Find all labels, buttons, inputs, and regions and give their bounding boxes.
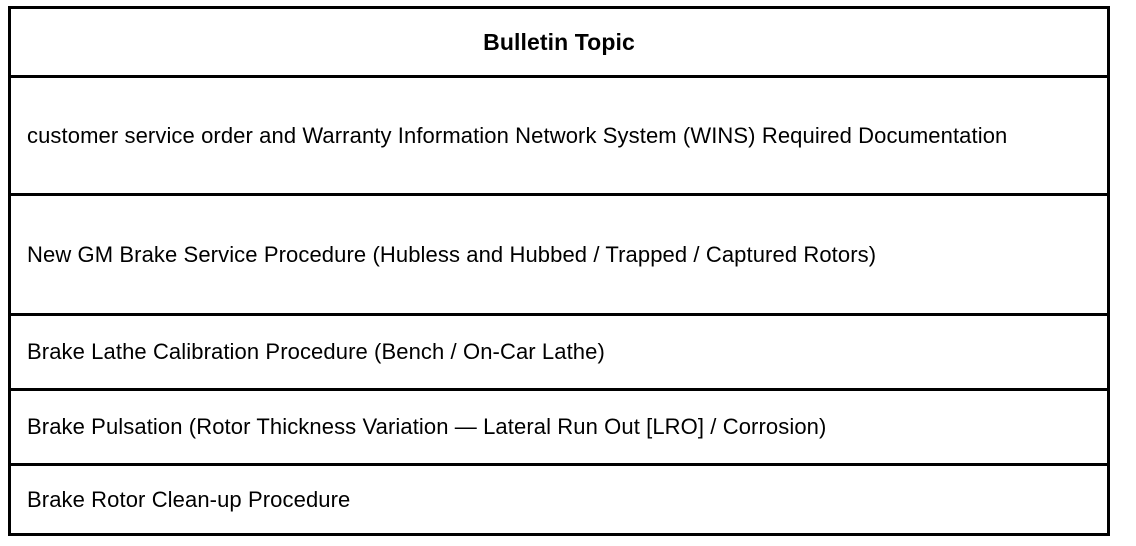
bulletin-topic-text: Brake Lathe Calibration Procedure (Bench… (27, 330, 1093, 374)
table-row: New GM Brake Service Procedure (Hubless … (11, 193, 1107, 313)
table-row: Brake Lathe Calibration Procedure (Bench… (11, 313, 1107, 388)
column-header-label: Bulletin Topic (21, 20, 1097, 64)
bulletin-topic-cell: customer service order and Warranty Info… (11, 114, 1107, 158)
table-row: Brake Pulsation (Rotor Thickness Variati… (11, 388, 1107, 463)
table-header-row: Bulletin Topic (11, 9, 1107, 75)
table-row: customer service order and Warranty Info… (11, 75, 1107, 193)
bulletin-topic-text: Brake Pulsation (Rotor Thickness Variati… (27, 405, 1093, 449)
column-header-bulletin-topic: Bulletin Topic (11, 20, 1107, 64)
bulletin-topic-text: customer service order and Warranty Info… (27, 114, 1093, 158)
bulletin-topic-cell: Brake Lathe Calibration Procedure (Bench… (11, 330, 1107, 374)
bulletin-topic-cell: Brake Rotor Clean-up Procedure (11, 478, 1107, 522)
bulletin-topic-text: New GM Brake Service Procedure (Hubless … (27, 233, 1093, 277)
bulletin-topic-cell: New GM Brake Service Procedure (Hubless … (11, 233, 1107, 277)
table-row: Brake Rotor Clean-up Procedure (11, 463, 1107, 533)
bulletin-topic-cell: Brake Pulsation (Rotor Thickness Variati… (11, 405, 1107, 449)
bulletin-topic-text: Brake Rotor Clean-up Procedure (27, 478, 1093, 522)
bulletin-topic-table: Bulletin Topic customer service order an… (8, 6, 1110, 536)
page-canvas: Bulletin Topic customer service order an… (0, 0, 1136, 546)
